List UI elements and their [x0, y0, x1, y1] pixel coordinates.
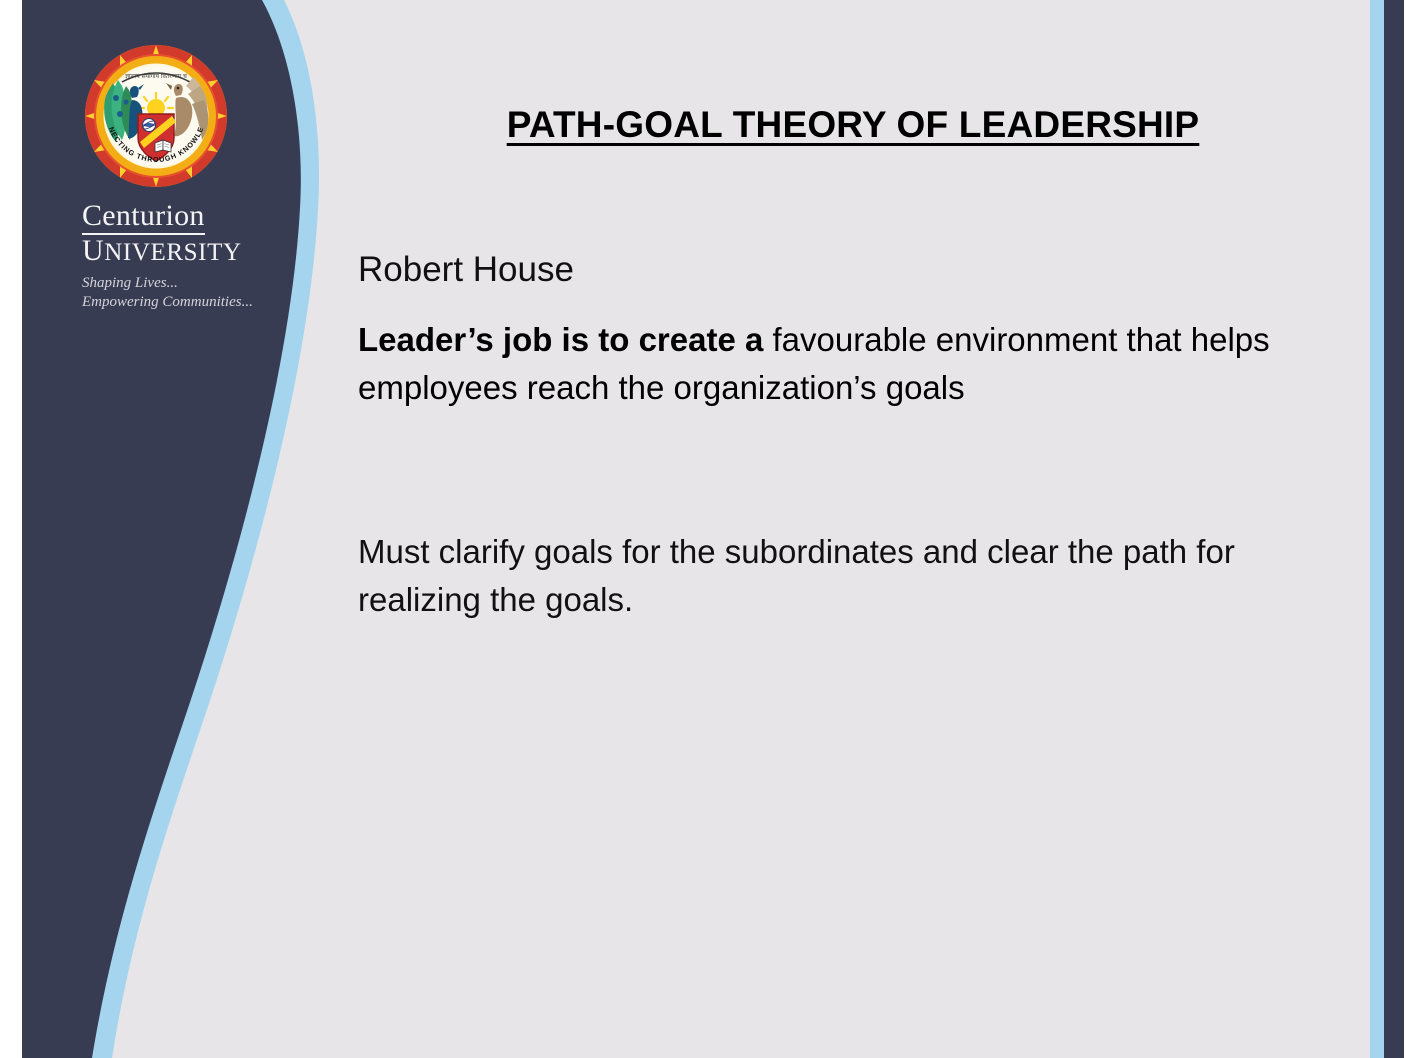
body-paragraph-1-lead: Leader’s job is to create a	[358, 321, 773, 358]
right-navy-band	[1384, 0, 1404, 1058]
body-paragraph-1: Leader’s job is to create a favourable e…	[358, 316, 1358, 412]
body-paragraph-2: Must clarify goals for the subordinates …	[358, 528, 1358, 624]
centurion-university-emblem-icon: ज्ञानस्य संयोगाय वितरणाय च	[82, 42, 230, 190]
university-name-primary: Centurion	[82, 200, 205, 235]
tagline-line-1: Shaping Lives...	[82, 274, 274, 293]
university-name-secondary: UNIVERSITY	[82, 236, 274, 268]
slide-canvas: ज्ञानस्य संयोगाय वितरणाय च	[22, 0, 1404, 1058]
tagline-line-2: Empowering Communities...	[82, 293, 274, 312]
emblem-book-icon	[155, 140, 171, 152]
right-accent-stripe	[1370, 0, 1384, 1058]
slide-body: Robert House Leader’s job is to create a…	[358, 248, 1358, 624]
university-tagline: Shaping Lives... Empowering Communities.…	[82, 274, 274, 312]
slide-root: ज्ञानस्य संयोगाय वितरणाय च	[0, 0, 1411, 1058]
page-title: PATH-GOAL THEORY OF LEADERSHIP	[358, 104, 1348, 146]
emblem-globe-icon	[142, 119, 156, 132]
author-name: Robert House	[358, 248, 1358, 292]
university-name: Centurion UNIVERSITY	[82, 200, 274, 268]
university-logo-block: ज्ञानस्य संयोगाय वितरणाय च	[74, 42, 274, 312]
svg-text:ज्ञानस्य संयोगाय वितरणाय च: ज्ञानस्य संयोगाय वितरणाय च	[125, 72, 187, 80]
